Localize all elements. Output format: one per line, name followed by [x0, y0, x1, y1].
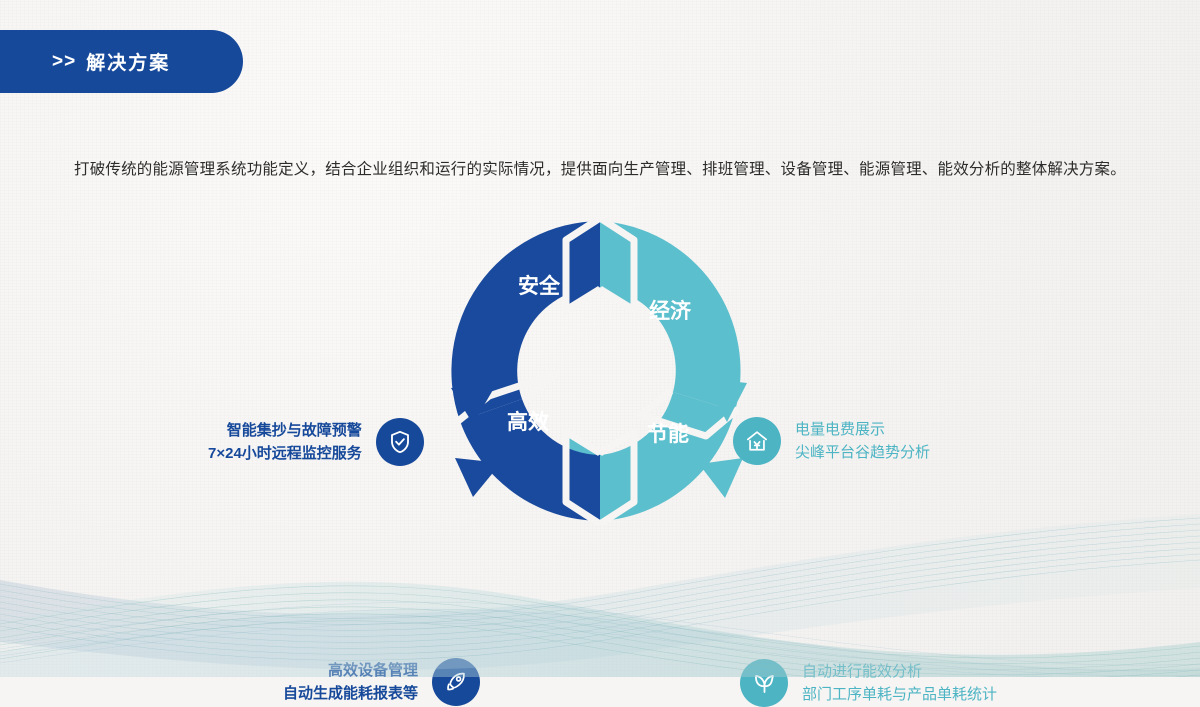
page-title: 解决方案	[86, 48, 170, 75]
label-block-saving: 自动进行能效分析 部门工序单耗与产品单耗统计	[740, 659, 997, 707]
label-saving-line1: 自动进行能效分析	[802, 660, 997, 683]
segment-label-economy: 经济	[649, 299, 692, 323]
label-text-economy: 电量电费展示 尖峰平台谷趋势分析	[795, 418, 930, 464]
section-header-badge: >> 解决方案	[0, 30, 243, 93]
label-efficiency-line2: 自动生成能耗报表等	[283, 682, 418, 705]
label-economy-line2: 尖峰平台谷趋势分析	[795, 441, 930, 464]
home-yuan-icon	[733, 417, 781, 465]
segment-label-security: 安全	[518, 274, 561, 298]
label-efficiency-line1: 高效设备管理	[283, 659, 418, 682]
label-text-efficiency: 高效设备管理 自动生成能耗报表等	[283, 659, 418, 705]
label-block-efficiency: 高效设备管理 自动生成能耗报表等	[283, 658, 480, 706]
cycle-diagram: 安全 经济 节能 高效 智能集抄与故障预警 7×24小时远程监控服务 高效设备管…	[0, 196, 1200, 546]
label-block-economy: 电量电费展示 尖峰平台谷趋势分析	[733, 417, 930, 465]
label-economy-line1: 电量电费展示	[795, 418, 930, 441]
rocket-icon	[432, 658, 480, 706]
segment-label-efficiency: 高效	[507, 410, 549, 434]
intro-paragraph: 打破传统的能源管理系统功能定义，结合企业组织和运行的实际情况，提供面向生产管理、…	[74, 155, 1130, 185]
shield-check-icon	[376, 418, 424, 466]
label-block-security: 智能集抄与故障预警 7×24小时远程监控服务	[208, 418, 424, 466]
label-text-saving: 自动进行能效分析 部门工序单耗与产品单耗统计	[802, 660, 997, 706]
label-security-line2: 7×24小时远程监控服务	[208, 442, 362, 465]
leaf-icon	[740, 659, 788, 707]
segment-label-saving: 节能	[647, 422, 689, 446]
cycle-donut-svg: 安全 经济 节能 高效	[415, 196, 785, 546]
label-text-security: 智能集抄与故障预警 7×24小时远程监控服务	[208, 419, 362, 465]
label-saving-line2: 部门工序单耗与产品单耗统计	[802, 683, 997, 706]
label-security-line1: 智能集抄与故障预警	[208, 419, 362, 442]
chevron-double-right-icon: >>	[52, 52, 76, 71]
